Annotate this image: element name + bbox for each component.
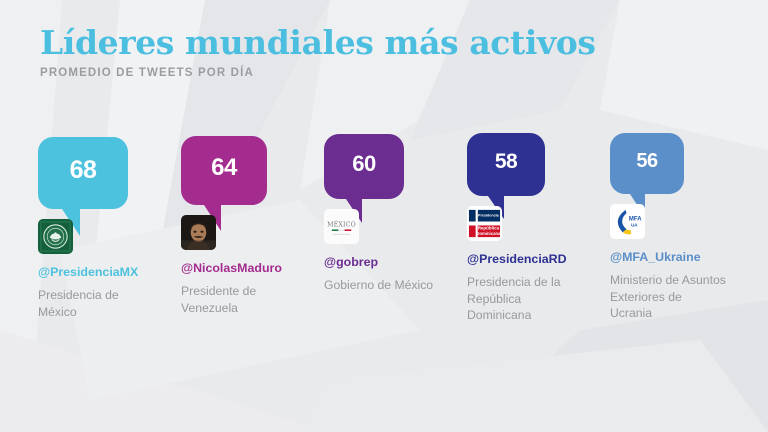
handle-label[interactable]: @PresidenciaMX (38, 265, 138, 279)
leader-column-mfa-ukraine: 56 MFA UA @MFA_Ukraine Ministerio de Asu… (610, 108, 753, 322)
bubble-zone: 64 (181, 108, 324, 205)
description-label: Presidencia de México (38, 287, 154, 320)
mfa-ukraine-logo-avatar: MFA UA (610, 204, 645, 239)
leader-column-presidenciamx: 68 @PresidenciaMX Presidencia de México (38, 108, 181, 320)
description-label: Presidente de Venezuela (181, 283, 297, 316)
nicolas-maduro-photo-avatar (181, 215, 216, 250)
value-bubble: 56 (610, 133, 684, 194)
value-bubble: 58 (467, 133, 545, 196)
leader-column-gobrep: 60 MÉXICO @gobrep Gobierno de México (324, 108, 467, 294)
svg-text:Dominicana: Dominicana (476, 231, 501, 236)
page-title: Líderes mundiales más activos (40, 24, 596, 62)
svg-text:República: República (478, 225, 500, 230)
value-bubble: 60 (324, 134, 404, 199)
bubble-value: 64 (211, 156, 237, 180)
handle-label[interactable]: @gobrep (324, 255, 378, 269)
handle-label[interactable]: @PresidenciaRD (467, 252, 567, 266)
presidencia-republica-dominicana-logo-avatar: Presidencia República Dominicana (467, 206, 502, 241)
leader-column-presidenciard: 58 Presidencia República Dominicana (467, 108, 610, 324)
header: Líderes mundiales más activos PROMEDIO D… (40, 24, 596, 79)
bubble-zone: 58 (467, 108, 610, 196)
page-subtitle: PROMEDIO DE TWEETS POR DÍA (40, 67, 596, 79)
description-label: Gobierno de México (324, 277, 433, 294)
gobierno-de-mexico-logo-avatar: MÉXICO (324, 209, 359, 244)
value-bubble: 68 (38, 137, 128, 209)
description-label: Presidencia de la República Dominicana (467, 274, 583, 324)
value-bubble: 64 (181, 136, 267, 205)
bubble-zone: 60 (324, 108, 467, 199)
handle-label[interactable]: @NicolasMaduro (181, 261, 282, 275)
svg-text:Presidencia: Presidencia (478, 214, 500, 218)
description-label: Ministerio de Asuntos Exteriores de Ucra… (610, 272, 726, 322)
svg-text:UA: UA (631, 222, 638, 227)
leaders-list: 68 @PresidenciaMX Presidencia de México (38, 108, 760, 324)
bubble-value: 56 (636, 151, 657, 171)
handle-label[interactable]: @MFA_Ukraine (610, 250, 701, 264)
bubble-zone: 56 (610, 108, 753, 194)
leader-column-nicolasmaduro: 64 @NicolasMaduro Presidente d (181, 108, 324, 316)
bubble-value: 60 (352, 153, 375, 175)
bubble-zone: 68 (38, 108, 181, 209)
mexico-presidency-seal-avatar (38, 219, 73, 254)
bubble-value: 58 (495, 151, 517, 172)
bubble-value: 68 (70, 158, 97, 183)
svg-text:MÉXICO: MÉXICO (327, 221, 356, 229)
